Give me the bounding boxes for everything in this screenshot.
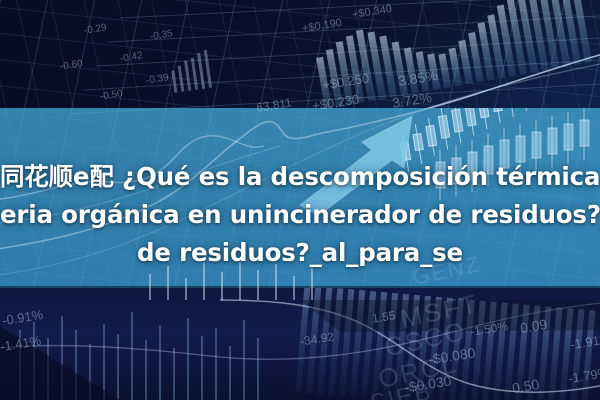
headline-line-2: eria orgánica en unincinerador de residu…: [0, 196, 600, 234]
headline-line-1: 同花顺e配 ¿Qué es la descomposición térmica: [0, 158, 600, 196]
dark-shadow-wedge: [0, 320, 120, 400]
headline-text: 同花顺e配 ¿Qué es la descomposición térmica …: [0, 158, 600, 272]
banner-image: +$0.2503.85%+$0.2303.72%+$0.340+$0.19063…: [0, 0, 600, 400]
headline-line-3: de residuos?_al_para_se: [0, 234, 600, 272]
